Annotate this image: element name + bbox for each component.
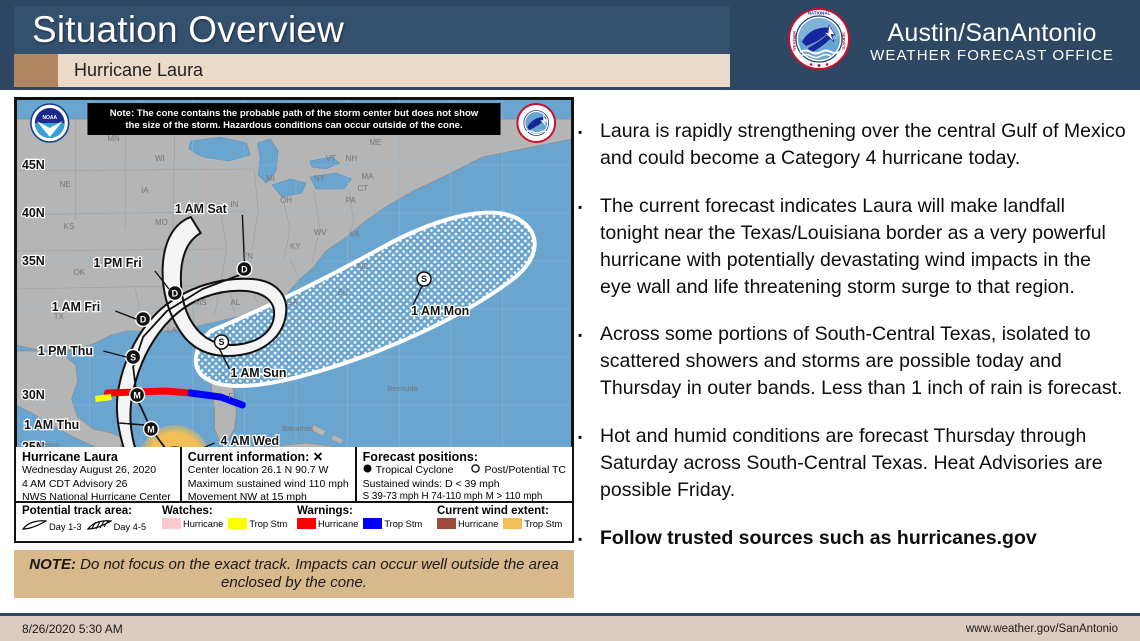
marker-1am-thu: M — [144, 422, 159, 437]
current-information-cell: Current information: ✕ Center location 2… — [182, 447, 357, 501]
page-subtitle: Hurricane Laura — [58, 60, 203, 81]
key-messages-list: ▪ Laura is rapidly strengthening over th… — [578, 118, 1126, 574]
svg-text:OK: OK — [74, 268, 86, 277]
svg-text:Bahamas: Bahamas — [282, 424, 314, 433]
svg-text:GA: GA — [286, 298, 298, 307]
marker-1am-sat: D — [237, 262, 252, 277]
svg-text:SERVICE: SERVICE — [842, 32, 847, 50]
svg-text:VA: VA — [350, 230, 361, 239]
list-item: ▪ Across some portions of South-Central … — [578, 321, 1126, 402]
forecast-positions-heading: Forecast positions: — [363, 450, 566, 464]
swatch-tropstm-watch — [228, 518, 247, 529]
sustained-winds-line: Sustained winds: D < 39 mph — [363, 478, 566, 491]
svg-text:NH: NH — [346, 154, 358, 163]
legend-potential-track-area: Potential track area: Day 1-3 — [16, 503, 156, 539]
legend-label: Hurricane — [183, 519, 223, 529]
footer-timestamp: 8/26/2020 5:30 AM — [22, 622, 123, 636]
legend-label: Day 4-5 — [114, 522, 147, 532]
legend-warnings: Warnings: Hurricane Trop Stm — [291, 503, 431, 539]
filled-circle-icon — [363, 464, 372, 477]
storm-advisory: 4 AM CDT Advisory 26 — [22, 478, 174, 491]
bullet-text: Across some portions of South-Central Te… — [600, 321, 1126, 402]
list-item: ▪ Hot and humid conditions are forecast … — [578, 423, 1126, 504]
footer-website[interactable]: www.weather.gov/SanAntonio — [966, 623, 1118, 635]
marker-landfall: M — [130, 388, 145, 403]
swatch-hurricane-wind — [437, 518, 456, 529]
svg-text:M: M — [147, 424, 154, 434]
bullet-square-icon: ▪ — [578, 525, 600, 553]
svg-text:CT: CT — [358, 184, 369, 193]
current-information-heading: Current information: ✕ — [188, 450, 349, 464]
svg-text:MS: MS — [195, 298, 207, 307]
marker-1pm-thu: S — [126, 350, 141, 365]
legend-item-hurricane-warning: Hurricane — [297, 518, 358, 529]
svg-text:S: S — [219, 337, 225, 347]
svg-text:MN: MN — [107, 134, 120, 143]
svg-text:PA: PA — [346, 196, 357, 205]
cone-note-callout: NOTE: Do not focus on the exact track. I… — [14, 550, 574, 598]
subtitle-accent-swatch — [14, 54, 58, 87]
svg-text:IL: IL — [195, 202, 202, 211]
svg-text:IN: IN — [230, 200, 238, 209]
svg-text:S: S — [130, 352, 136, 362]
legend-label: Trop Stm — [524, 519, 562, 529]
legend-label: Day 1-3 — [49, 522, 82, 532]
forecast-symbol-legend: Tropical Cyclone Post/Potential TC — [363, 464, 566, 477]
slide: Situation Overview Hurricane Laura — [0, 0, 1140, 641]
track-label-1pm-fri: 1 PM Fri — [93, 256, 141, 270]
office-subtitle: WEATHER FORECAST OFFICE — [870, 47, 1114, 64]
hurricane-warning-coast — [107, 391, 190, 393]
page-title: Situation Overview — [14, 9, 344, 51]
legend-item-day45: Day 4-5 — [87, 518, 147, 536]
svg-text:D: D — [241, 264, 248, 274]
track-label-1pm-thu: 1 PM Thu — [38, 344, 93, 358]
svg-text:30N: 30N — [22, 388, 45, 402]
note-label: NOTE: — [29, 556, 76, 573]
legend-item-tropstm-warning: Trop Stm — [363, 518, 422, 529]
marker-1am-fri: D — [136, 312, 151, 327]
track-label-1am-sun: 1 AM Sun — [230, 366, 286, 380]
svg-text:KY: KY — [290, 242, 301, 251]
center-location: Center location 26.1 N 90.7 W — [188, 464, 349, 477]
legend-item-tropstm-wind: Trop Stm — [503, 518, 562, 529]
svg-text:TN: TN — [242, 252, 253, 261]
svg-text:NATIONAL: NATIONAL — [808, 11, 831, 16]
svg-text:NY: NY — [314, 174, 326, 183]
max-sustained-wind: Maximum sustained wind 110 mph — [188, 478, 349, 491]
bullet-text: Hot and humid conditions are forecast Th… — [600, 423, 1126, 504]
svg-text:D: D — [172, 288, 179, 298]
svg-text:D: D — [140, 314, 147, 324]
svg-text:40N: 40N — [22, 206, 45, 220]
swatch-hurricane-warning — [297, 518, 316, 529]
wind-category-line: S 39-73 mph H 74-110 mph M > 110 mph — [363, 491, 566, 503]
bullet-square-icon: ▪ — [578, 423, 600, 504]
svg-text:IA: IA — [141, 186, 149, 195]
title-band: Situation Overview — [14, 6, 730, 54]
svg-text:WEATHER: WEATHER — [792, 31, 797, 51]
svg-text:MA: MA — [362, 172, 375, 181]
svg-text:LA: LA — [167, 326, 177, 335]
cone-note-text-wrap: NOTE: Do not focus on the exact track. I… — [22, 556, 566, 593]
subtitle-band: Hurricane Laura — [14, 54, 730, 87]
swatch-hurricane-watch — [162, 518, 181, 529]
note-text: Do not focus on the exact track. Impacts… — [80, 556, 559, 591]
marker-1am-mon: S — [417, 272, 431, 286]
bullet-text: The current forecast indicates Laura wil… — [600, 193, 1126, 301]
svg-text:OH: OH — [280, 196, 292, 205]
office-identity: NATIONAL WEATHER SERVICE Austin/SanAnton… — [788, 8, 1114, 75]
bullet-text: Laura is rapidly strengthening over the … — [600, 118, 1126, 172]
bullet-square-icon: ▪ — [578, 193, 600, 301]
legend-label: Trop Stm — [249, 519, 287, 529]
list-item: ▪ The current forecast indicates Laura w… — [578, 193, 1126, 301]
svg-text:SC: SC — [338, 288, 349, 297]
cone-disclaimer-line1: Note: The cone contains the probable pat… — [110, 108, 479, 119]
svg-text:45N: 45N — [22, 158, 45, 172]
office-city: Austin/SanAntonio — [870, 19, 1114, 48]
svg-text:Bermuda: Bermuda — [387, 384, 418, 393]
noaa-logo-icon: NOAA — [31, 104, 69, 142]
national-weather-service-seal-icon: NATIONAL WEATHER SERVICE — [788, 8, 850, 75]
svg-text:MO: MO — [155, 218, 168, 227]
current-information-label: Current information: — [188, 450, 310, 464]
legend-label: Hurricane — [318, 519, 358, 529]
legend-heading: Current wind extent: — [437, 505, 567, 517]
storm-identity-cell: Hurricane Laura Wednesday August 26, 202… — [16, 447, 182, 501]
svg-text:FL: FL — [228, 392, 238, 401]
legend-heading: Watches: — [162, 505, 286, 517]
slide-header: Situation Overview Hurricane Laura — [0, 0, 1140, 90]
svg-text:ME: ME — [369, 138, 381, 147]
cone-disclaimer-line2: the size of the storm. Hazardous conditi… — [125, 120, 462, 131]
track-label-1am-thu: 1 AM Thu — [24, 418, 79, 432]
svg-text:S: S — [421, 274, 427, 284]
storm-info-box: Hurricane Laura Wednesday August 26, 202… — [14, 447, 574, 543]
legend-heading: Warnings: — [297, 505, 426, 517]
legend-current-wind-extent: Current wind extent: Hurricane Trop Stm — [431, 503, 572, 539]
svg-text:NOAA: NOAA — [42, 115, 57, 121]
swatch-tropstm-wind — [503, 518, 522, 529]
storm-date: Wednesday August 26, 2020 — [22, 464, 174, 477]
bullet-text: Follow trusted sources such as hurricane… — [600, 525, 1037, 553]
open-circle-icon — [471, 464, 480, 477]
legend-item-hurricane-watch: Hurricane — [162, 518, 223, 529]
track-label-4am-wed: 4 AM Wed — [221, 434, 280, 448]
forecast-positions-cell: Forecast positions: Tropical Cyclone Pos… — [357, 447, 572, 501]
svg-text:35N: 35N — [22, 254, 45, 268]
cone-day13-shape-icon — [22, 518, 47, 536]
track-label-1am-mon: 1 AM Mon — [411, 304, 469, 318]
office-name-block: Austin/SanAntonio WEATHER FORECAST OFFIC… — [870, 19, 1114, 65]
tropical-storm-watch-coast — [95, 397, 111, 399]
legend-label: Trop Stm — [384, 519, 422, 529]
tropical-cyclone-label: Tropical Cyclone — [376, 464, 454, 477]
list-item: ▪ Laura is rapidly strengthening over th… — [578, 118, 1126, 172]
current-position-x-icon: ✕ — [313, 450, 323, 464]
svg-text:WI: WI — [155, 154, 165, 163]
legend-item-hurricane-wind: Hurricane — [437, 518, 498, 529]
marker-1am-sun: S — [215, 335, 229, 349]
svg-text:KS: KS — [64, 222, 75, 231]
bullet-square-icon: ▪ — [578, 321, 600, 402]
svg-text:TX: TX — [54, 312, 65, 321]
legend-watches: Watches: Hurricane Trop Stm — [156, 503, 291, 539]
svg-text:AL: AL — [230, 298, 240, 307]
slide-footer: 8/26/2020 5:30 AM www.weather.gov/SanAnt… — [0, 613, 1140, 641]
legend-item-tropstm-watch: Trop Stm — [228, 518, 287, 529]
list-item: ▪ Follow trusted sources such as hurrica… — [578, 525, 1126, 553]
storm-info-top-row: Hurricane Laura Wednesday August 26, 202… — [16, 447, 572, 503]
bullet-square-icon: ▪ — [578, 118, 600, 172]
svg-text:NC: NC — [358, 262, 370, 271]
legend-item-day13: Day 1-3 — [22, 518, 82, 536]
marker-1pm-fri: D — [167, 286, 182, 301]
svg-text:VT: VT — [326, 154, 336, 163]
cone-day45-shape-icon — [87, 518, 112, 536]
svg-text:WV: WV — [314, 228, 327, 237]
storm-name: Hurricane Laura — [22, 450, 174, 464]
legend-label: Hurricane — [458, 519, 498, 529]
svg-text:M: M — [133, 390, 140, 400]
map-legend-row: Potential track area: Day 1-3 — [16, 503, 572, 539]
svg-text:NE: NE — [60, 180, 71, 189]
legend-heading: Potential track area: — [22, 505, 151, 517]
svg-text:MI: MI — [266, 174, 275, 183]
post-potential-tc-label: Post/Potential TC — [484, 464, 566, 477]
nws-logo-icon — [517, 104, 555, 142]
swatch-tropstm-warning — [363, 518, 382, 529]
